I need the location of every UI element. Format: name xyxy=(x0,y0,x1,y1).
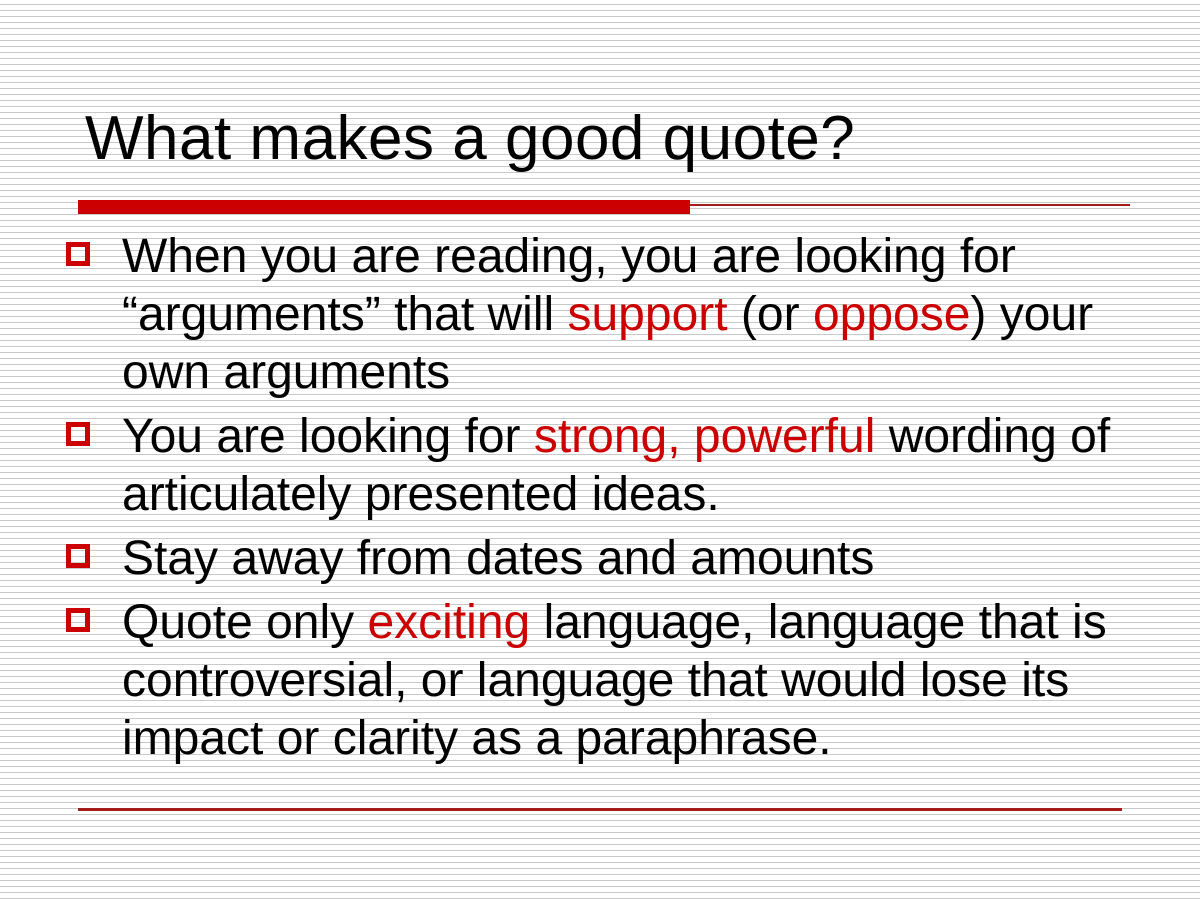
list-item-text: Quote only exciting language, language t… xyxy=(122,594,1180,768)
list-item: Quote only exciting language, language t… xyxy=(60,594,1180,768)
highlighted-phrase: strong, powerful xyxy=(534,410,876,463)
hollow-square-icon xyxy=(66,422,90,446)
page-title: What makes a good quote? xyxy=(85,108,1145,170)
list-item: You are looking for strong, powerful wor… xyxy=(60,408,1180,524)
list-item-text: Stay away from dates and amounts xyxy=(122,530,1180,588)
hollow-square-icon xyxy=(66,242,90,266)
title-underline-accent-bar xyxy=(78,200,690,214)
list-item: When you are reading, you are looking fo… xyxy=(60,228,1180,402)
hollow-square-icon xyxy=(66,544,90,568)
text-run: Quote only xyxy=(122,596,367,649)
bullet-list: When you are reading, you are looking fo… xyxy=(60,228,1180,774)
list-item: Stay away from dates and amounts xyxy=(60,530,1180,588)
text-run: Stay away from dates and amounts xyxy=(122,532,874,585)
presentation-slide: What makes a good quote? When you are re… xyxy=(0,0,1200,900)
highlighted-phrase: support xyxy=(567,288,727,341)
text-run: (or xyxy=(728,288,813,341)
highlighted-phrase: oppose xyxy=(813,288,970,341)
text-run: You are looking for xyxy=(122,410,534,463)
title-area: What makes a good quote? xyxy=(85,108,1145,170)
list-item-text: When you are reading, you are looking fo… xyxy=(122,228,1180,402)
bottom-divider-rule xyxy=(78,808,1122,811)
highlighted-phrase: exciting xyxy=(367,596,530,649)
hollow-square-icon xyxy=(66,608,90,632)
list-item-text: You are looking for strong, powerful wor… xyxy=(122,408,1180,524)
